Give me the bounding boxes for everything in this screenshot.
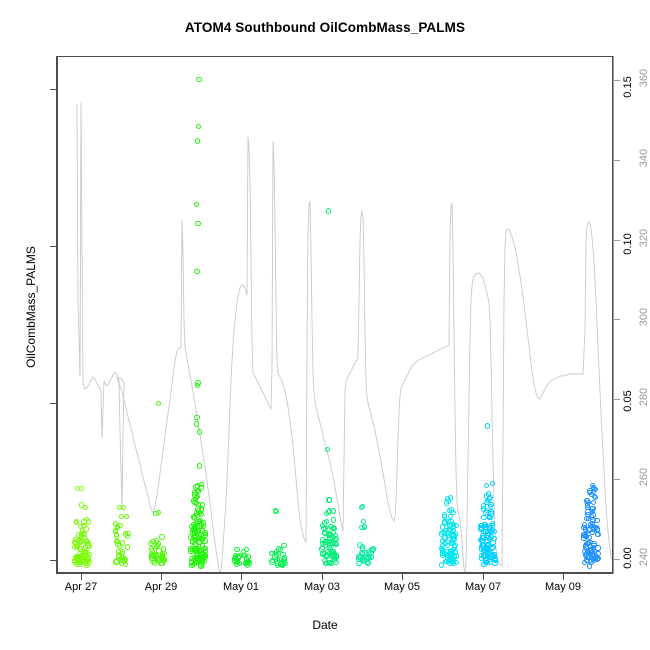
data-point (125, 534, 130, 539)
data-point (324, 554, 329, 559)
y-axis-label: OilCombMass_PALMS (24, 227, 38, 387)
data-point (584, 552, 589, 557)
y2-tick (613, 160, 620, 161)
x-axis-label: Date (0, 618, 650, 632)
x-tick (322, 573, 323, 580)
data-point (152, 560, 157, 565)
data-point (113, 521, 118, 526)
data-point (488, 559, 493, 564)
y2-tick-label: 300 (638, 295, 650, 339)
data-point (333, 554, 338, 559)
y2-tick-label: 280 (638, 375, 650, 419)
y2-tick-label: 340 (638, 136, 650, 180)
page-title: ATOM4 Southbound OilCombMass_PALMS (0, 20, 650, 35)
y-tick (50, 89, 57, 90)
y2-tick-label: 320 (638, 216, 650, 260)
x-tick-label: May 01 (206, 581, 276, 593)
data-point (197, 463, 202, 468)
data-point (196, 77, 201, 82)
data-point (273, 508, 278, 513)
data-point (125, 544, 130, 549)
data-point (322, 520, 327, 525)
y-tick (50, 403, 57, 404)
plot-page: ATOM4 Southbound OilCombMass_PALMS 0.000… (0, 0, 650, 650)
data-point (196, 539, 201, 544)
data-point (86, 560, 91, 565)
x-tick-label: Apr 27 (46, 581, 116, 593)
y2-tick (613, 240, 620, 241)
y-tick (50, 560, 57, 561)
data-point (124, 514, 129, 519)
data-point (485, 423, 490, 428)
y2-tick (613, 80, 620, 81)
x-tick-label: May 09 (528, 581, 598, 593)
data-point (489, 546, 494, 551)
x-tick (81, 573, 82, 580)
x-axis-line (57, 573, 614, 574)
altitude-trace-line (77, 103, 612, 572)
x-tick (563, 573, 564, 580)
data-point (76, 554, 81, 559)
data-point (324, 539, 329, 544)
x-tick (161, 573, 162, 580)
y-tick-label: 0.15 (622, 65, 634, 109)
y2-axis-line (613, 56, 614, 574)
data-point (326, 208, 331, 213)
data-point (194, 269, 199, 274)
data-point (324, 511, 329, 516)
data-point (235, 559, 240, 564)
x-tick-label: May 07 (448, 581, 518, 593)
data-point (331, 517, 336, 522)
data-point (234, 547, 239, 552)
data-point (197, 429, 202, 434)
data-point (483, 560, 488, 565)
data-point (449, 556, 454, 561)
data-point (449, 541, 454, 546)
plot-frame (57, 56, 613, 573)
x-tick (483, 573, 484, 580)
y-tick-label: 0.10 (622, 222, 634, 266)
y2-tick (613, 319, 620, 320)
data-point (194, 415, 199, 420)
data-point (198, 563, 203, 568)
y2-tick-label: 360 (638, 56, 650, 100)
data-point (159, 534, 164, 539)
y-tick-label: 0.00 (622, 536, 634, 580)
altitude-trace (58, 57, 612, 572)
data-point (85, 543, 90, 548)
y-axis-line (56, 56, 57, 574)
y2-tick-label: 260 (638, 455, 650, 499)
data-point (194, 547, 199, 552)
data-point (193, 557, 198, 562)
y-tick-label: 0.05 (622, 379, 634, 423)
data-point (481, 515, 486, 520)
x-tick-label: Apr 29 (126, 581, 196, 593)
y2-tick-label: 240 (638, 535, 650, 579)
y2-tick (613, 559, 620, 560)
data-point (485, 554, 490, 559)
data-point (237, 553, 242, 558)
data-point (333, 541, 338, 546)
y-tick (50, 246, 57, 247)
data-point (189, 563, 194, 568)
data-point (195, 138, 200, 143)
x-tick-label: May 03 (287, 581, 357, 593)
data-point (330, 534, 335, 539)
x-tick (241, 573, 242, 580)
data-point (487, 515, 492, 520)
plot-canvas (58, 57, 612, 572)
data-point (74, 561, 79, 566)
x-tick (402, 573, 403, 580)
y2-tick (613, 479, 620, 480)
y2-tick (613, 399, 620, 400)
data-point (327, 497, 332, 502)
x-tick-label: May 05 (367, 581, 437, 593)
